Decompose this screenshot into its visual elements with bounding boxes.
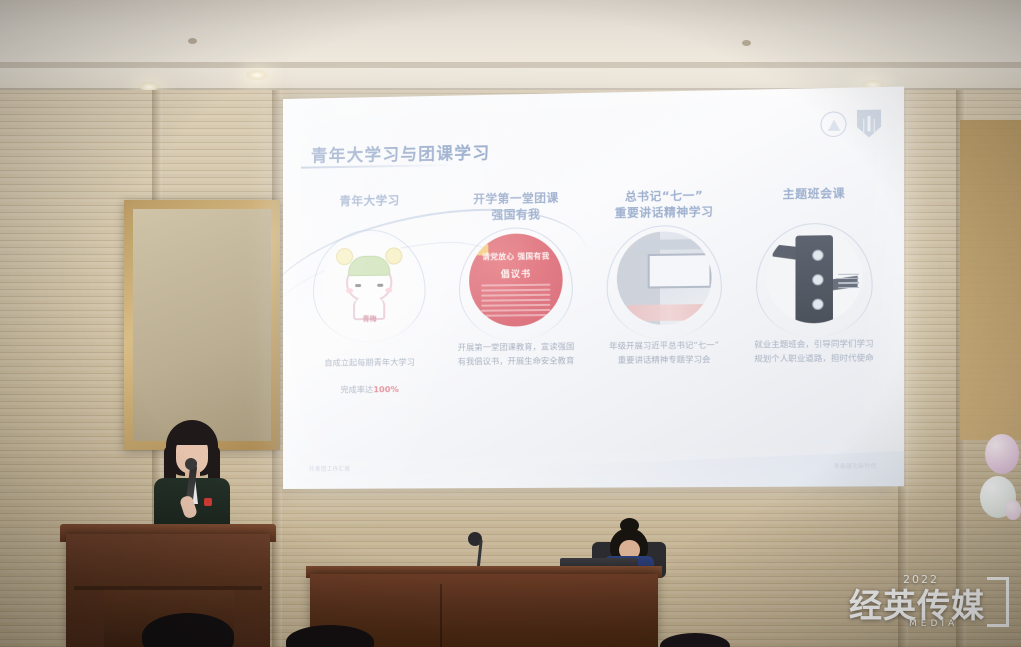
caption-line-1: 自成立起每期青年大学习 xyxy=(324,356,415,367)
column-heading: 开学第一堂团课 强国有我 xyxy=(473,191,558,225)
presenter-fringe xyxy=(174,430,210,445)
proposal-poster-image: 请党放心 强国有我 倡议书 xyxy=(469,233,563,327)
app-text-lines xyxy=(838,274,859,291)
school-crest-icon xyxy=(857,110,881,138)
presenter xyxy=(152,420,232,540)
app-screen-image xyxy=(766,229,862,324)
poster-body-lines xyxy=(481,284,550,320)
column-heading: 总书记“七一” 重要讲话精神学习 xyxy=(615,188,714,222)
slide-columns: 青年大学习 青梅 自成立起每期青年大学习 xyxy=(297,185,889,425)
wall-picture-canvas xyxy=(133,209,271,441)
ceiling-downlight xyxy=(246,70,268,80)
poster-subtitle: 倡议书 xyxy=(469,266,563,280)
watermark-subtitle: MEDIA xyxy=(909,619,958,629)
poster-title: 请党放心 强国有我 xyxy=(469,250,563,262)
presenter-badge-pin xyxy=(204,498,212,506)
caption-highlight: 100% xyxy=(373,384,398,394)
mascot-eye-right xyxy=(378,284,384,287)
slide-title: 青年大学习与团课学习 xyxy=(311,139,490,166)
column-heading: 主题班会课 xyxy=(783,186,845,220)
wall-panel-right xyxy=(960,120,1021,440)
mascot-hair xyxy=(348,256,390,277)
media-watermark: 经英传媒 2022 MEDIA xyxy=(845,571,1009,633)
presentation-slide: 青年大学习与团课学习 青年大学习 xyxy=(283,87,904,489)
balloon-pink-small xyxy=(1005,500,1021,520)
slide-footer-wave xyxy=(283,443,904,489)
mascot-eye-left xyxy=(355,284,361,287)
table-seam xyxy=(440,584,442,647)
app-icon xyxy=(812,299,823,310)
wall-picture-frame xyxy=(124,200,280,450)
slide-column-3: 总书记“七一” 重要讲话精神学习 年级开展习近平总书记“七一” 重要讲话精神专题… xyxy=(590,188,739,423)
slide-logos xyxy=(820,110,881,139)
mascot-cheek-right xyxy=(386,288,393,293)
column-caption: 年级开展习近平总书记“七一” 重要讲话精神专题学习会 xyxy=(598,338,730,367)
column-caption: 自成立起每期青年大学习 完成率达100% xyxy=(305,341,434,396)
projection-screen: 青年大学习与团课学习 青年大学习 xyxy=(283,87,904,489)
mascot-image: 青梅 xyxy=(323,235,415,328)
slide-footer-right: 青春建功新时代 xyxy=(834,462,877,470)
ceiling-beam xyxy=(0,62,1021,68)
conference-hall-photo: 青年大学习与团课学习 青年大学习 xyxy=(0,0,1021,647)
caption-line-2: 完成率达 xyxy=(340,384,373,394)
column-caption: 开展第一堂团课教育，宣读强国 有我倡议书，开展生命安全教育 xyxy=(451,340,581,369)
slide-footer-left: 共青团工作汇报 xyxy=(309,465,350,473)
slide-column-2: 开学第一堂团课 强国有我 请党放心 强国有我 倡议书 开展第一堂团课教育，宣读强… xyxy=(443,190,590,424)
ceiling-fixture-dot xyxy=(742,40,751,46)
slide-column-1: 青年大学习 青梅 自成立起每期青年大学习 xyxy=(297,192,443,424)
slide-column-4: 主题班会课 就业主题班会，引导同学们学习 规划个人职业道路，担时代使命 xyxy=(739,185,890,422)
watermark-year: 2022 xyxy=(903,573,939,586)
classroom-seat-row xyxy=(627,304,711,321)
app-icon xyxy=(812,274,823,285)
ceiling-fixture-dot xyxy=(188,38,197,44)
mascot-name-label: 青梅 xyxy=(323,313,415,324)
app-icon xyxy=(812,250,823,261)
column-heading: 青年大学习 xyxy=(339,193,399,226)
balloon-pink xyxy=(985,434,1019,474)
classroom-screen xyxy=(648,253,712,288)
column-caption: 就业主题班会，引导同学们学习 规划个人职业道路，担时代使命 xyxy=(747,337,880,366)
classroom-beam xyxy=(637,239,711,250)
microphone-head xyxy=(185,458,197,470)
circle-emblem-icon xyxy=(820,111,846,137)
classroom-photo xyxy=(617,231,712,326)
watermark-bracket xyxy=(987,577,1009,627)
mascot-ear-right xyxy=(386,247,403,264)
